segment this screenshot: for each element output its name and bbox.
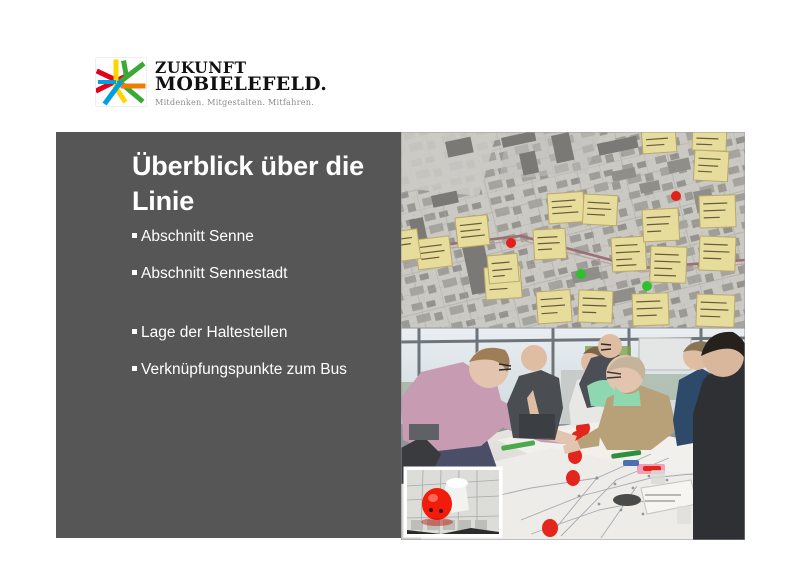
list-item-label: Abschnitt Senne: [141, 228, 254, 247]
bullet-square-icon: [132, 329, 137, 334]
bullet-square-icon: [132, 270, 137, 275]
slide-canvas: ZUKUNFT MOBIELEFELD. Mitdenken. Mitgesta…: [0, 0, 800, 566]
list-item-label: Lage der Haltestellen: [141, 324, 288, 343]
bullet-square-icon: [132, 233, 137, 238]
list-item-label: Verknüpfungspunkte zum Bus: [141, 361, 347, 380]
zukunft-mobielefeld-mark-icon: [96, 58, 146, 106]
inset-photo-red-marker: [405, 468, 501, 536]
list-item: Verknüpfungspunkte zum Bus: [132, 361, 400, 380]
photo-map-with-sticky-notes: [401, 132, 745, 328]
map-marker-green: [576, 269, 586, 279]
brand-tagline: Mitdenken. Mitgestalten. Mitfahren.: [155, 97, 327, 107]
brand-name-line2: MOBIELEFELD.: [155, 75, 327, 94]
map-marker-red: [506, 238, 516, 248]
bullet-list-sections: Abschnitt Senne Abschnitt Sennestadt: [132, 228, 400, 301]
map-marker-red: [671, 191, 681, 201]
brand-logo: ZUKUNFT MOBIELEFELD. Mitdenken. Mitgesta…: [96, 58, 327, 107]
list-item: Abschnitt Senne: [132, 228, 400, 247]
brand-wordmark: ZUKUNFT MOBIELEFELD. Mitdenken. Mitgesta…: [155, 58, 327, 107]
photo-workshop-participants: [401, 328, 745, 540]
bullet-list-topics: Lage der Haltestellen Verknüpfungspunkte…: [132, 324, 400, 397]
bullet-square-icon: [132, 366, 137, 371]
list-item: Lage der Haltestellen: [132, 324, 400, 343]
list-item-label: Abschnitt Sennestadt: [141, 265, 288, 284]
content-panel: Überblick über die Linie Abschnitt Senne…: [56, 132, 401, 538]
page-title: Überblick über die Linie: [132, 149, 394, 218]
list-item: Abschnitt Sennestadt: [132, 265, 400, 284]
